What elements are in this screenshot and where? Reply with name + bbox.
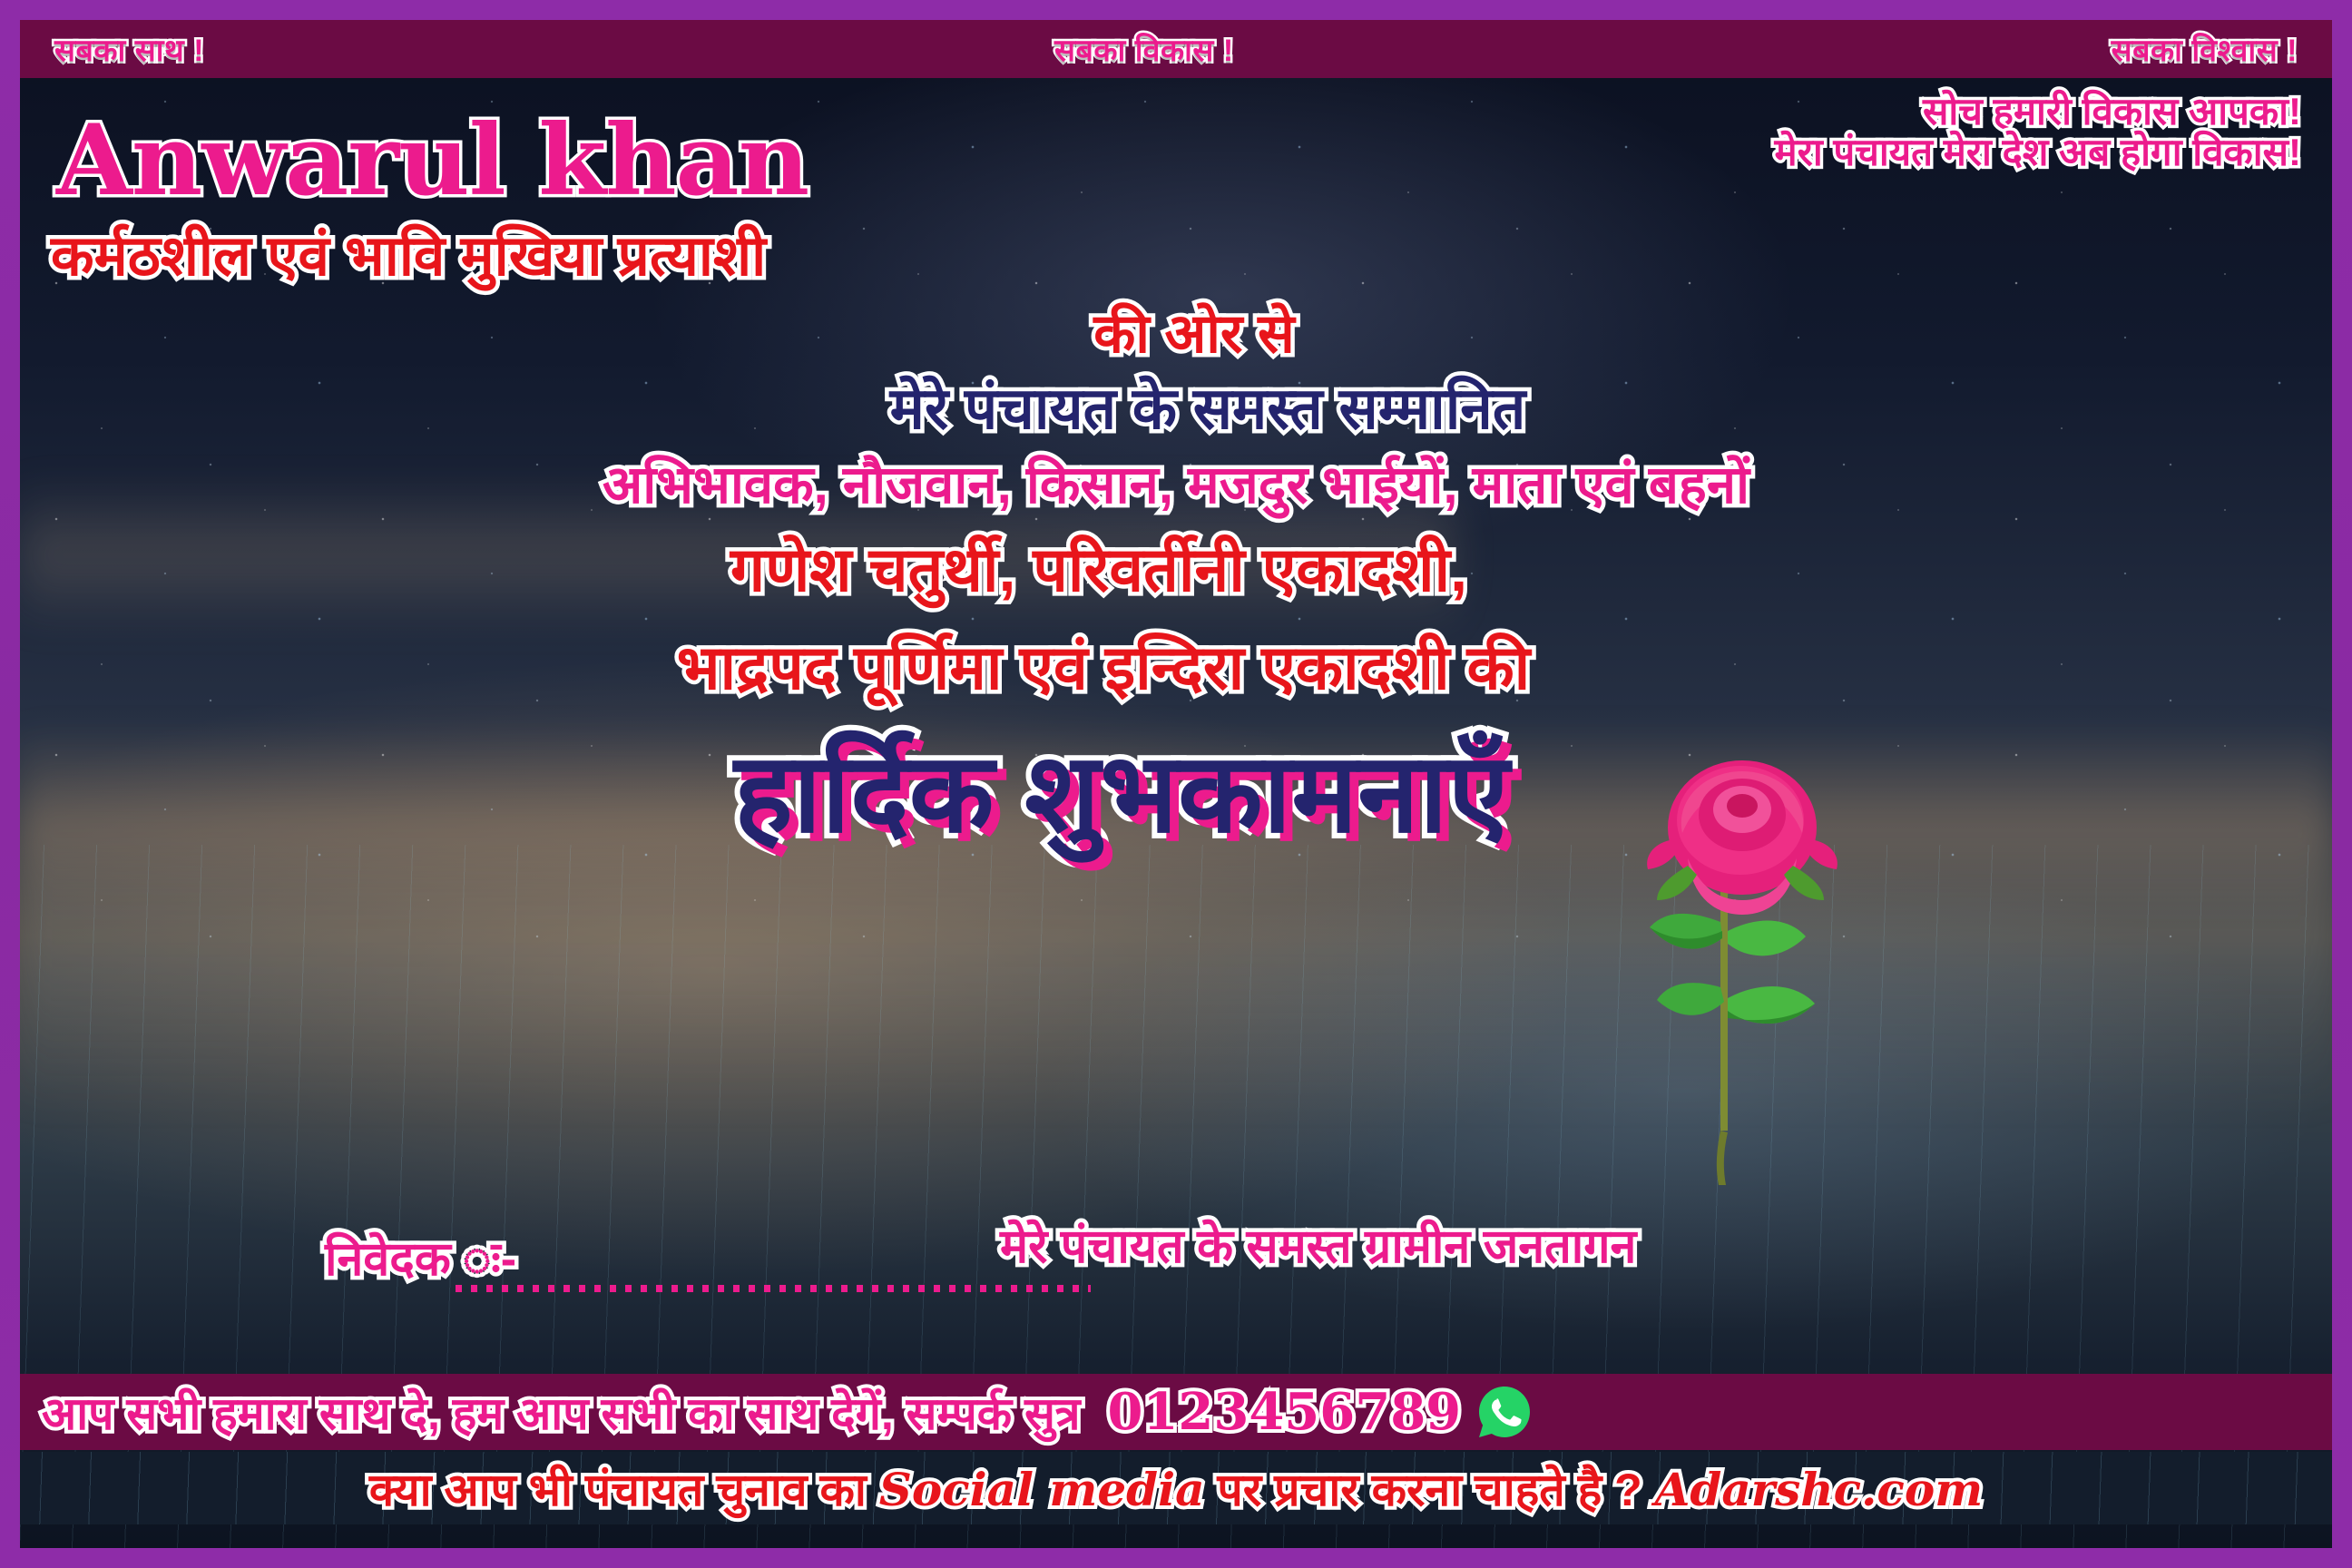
footer-promo-bar: क्या आप भी पंचायत चुनाव का Social media … [20,1452,2332,1524]
tagline-line-1: सोच हमारी विकास आपका! [1775,91,2301,132]
greeting-headline: हार्दिक शुभकामनाएँ [20,713,2332,864]
slogan-sabka-vikas: सबका विकास ! [1054,28,1234,70]
promo-prefix: क्या आप भी पंचायत चुनाव का [369,1465,879,1515]
requester-dotted-line [456,1285,1091,1292]
footer-promo-text: क्या आप भी पंचायत चुनाव का Social media … [369,1457,1983,1519]
message-line-4-text: अभिभावक, नौजवान, किसान, मजदुर भाईयों, मा… [603,456,1749,514]
footer-appeal-text: आप सभी हमारा साथ दे, हम आप सभी का साथ दे… [42,1381,1080,1443]
promo-suffix: पर प्रचार करना चाहते है ? [1204,1465,1654,1515]
tagline-line-2: मेरा पंचायत मेरा देश अब होगा विकास! [1775,132,2301,172]
slogan-sabka-vishwas: सबका विश्वास ! [2112,28,2298,70]
festival-line-1: गणेश चतुर्थी, परिवर्तीनी एकादशी, [20,524,2332,609]
promo-english-term: Social media [879,1463,1205,1516]
message-line-1: कर्मठशील एवं भावि मुखिया प्रत्याशी [51,216,766,292]
message-line-1-text: कर्मठशील एवं भावि मुखिया प्रत्याशी [51,225,766,288]
candidate-name: Anwarul khan [56,103,808,218]
contact-phone-number[interactable]: 0123456789 [1107,1382,1461,1442]
promo-website[interactable]: Adarshc.com [1655,1463,1984,1516]
message-line-2: की ओर से [20,294,2332,368]
festival-line-2: भाद्रपद पूर्णिमा एवं इन्दिरा एकादशी की [20,622,2332,707]
message-line-2-text: की ओर से [1057,303,1294,364]
campaign-tagline: सोच हमारी विकास आपका! मेरा पंचायत मेरा द… [1775,91,2301,173]
election-greeting-poster: सबका साथ ! सबका विकास ! सबका विश्वास ! A… [0,0,2352,1568]
festival-line-1-text: गणेश चतुर्थी, परिवर्तीनी एकादशी, [730,535,1622,604]
footer-appeal-bar: आप सभी हमारा साथ दे, हम आप सभी का साथ दे… [20,1374,2332,1450]
whatsapp-icon[interactable] [1475,1383,1534,1441]
top-slogan-bar: सबका साथ ! सबका विकास ! सबका विश्वास ! [20,20,2332,78]
requester-label: निवेदक ः- [325,1233,516,1286]
message-line-4: अभिभावक, नौजवान, किसान, मजदुर भाईयों, मा… [20,446,2332,518]
message-line-3-text: मेरे पंचायत के समस्त सम्मानित [827,376,1526,441]
festival-line-2-text: भाद्रपद पूर्णिमा एवं इन्दिरा एकादशी की [677,633,1676,702]
slogan-sabka-saath: सबका साथ ! [54,28,204,70]
poster-content: Anwarul khan सोच हमारी विकास आपका! मेरा … [20,78,2332,1365]
requester-from-wrap: मेरे पंचायत के समस्त ग्रामीन जनतागन [1000,1212,1636,1277]
message-line-3: मेरे पंचायत के समस्त सम्मानित [20,367,2332,446]
greeting-headline-text: हार्दिक शुभकामनाएँ [734,731,1618,855]
requester-label-wrap: निवेदक ः- [325,1225,516,1289]
requester-from: मेरे पंचायत के समस्त ग्रामीन जनतागन [1000,1220,1636,1273]
